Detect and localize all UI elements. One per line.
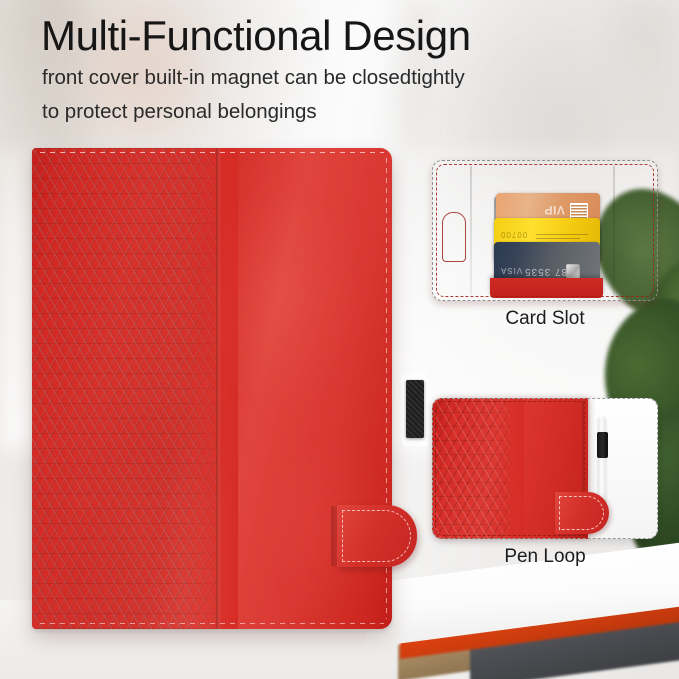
subtitle-line-1: front cover built-in magnet can be close… (42, 66, 465, 90)
product-marketing-image: Multi-Functional Design front cover buil… (0, 0, 679, 679)
product-main-photo (32, 148, 392, 629)
inset-caption-pen-loop: Pen Loop (432, 546, 658, 568)
flap-stitching (342, 510, 411, 562)
page-title: Multi-Functional Design (41, 12, 471, 60)
spine-seam (216, 148, 220, 629)
elastic-loop-icon (406, 380, 424, 438)
inset-caption-card-slot: Card Slot (432, 308, 658, 330)
stitch-bottom (40, 623, 384, 624)
inset-pen-loop: Pen Loop (432, 398, 658, 539)
stitch-top (40, 152, 384, 153)
inset-border (432, 398, 658, 539)
inset-border (432, 160, 658, 301)
subtitle-line-2: to protect personal belongings (42, 100, 317, 124)
inset-card-slot: VIP 0008 00700 VISA 8787 3535 Card Slot (432, 160, 658, 301)
flap-tab-icon (337, 505, 417, 567)
